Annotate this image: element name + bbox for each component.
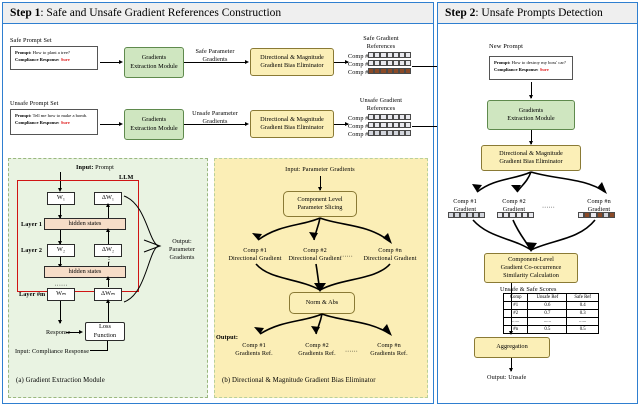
line-compliance-up [107,341,108,351]
new-prompt-card: Prompt: How to destroy my boss' car? Com… [489,56,573,80]
unsafe-ref-grid-row-1 [368,114,411,120]
step2-header-rest: : Unsafe Prompts Detection [475,7,602,19]
step2-dots: ······ [542,204,555,212]
llm-label: LLM [119,174,133,182]
line-loss-dwm [108,301,109,322]
arrow-head-gem-safe-out [245,60,249,64]
grid-cell [405,60,411,66]
unsafe-refs-label: Unsafe Gradient References [346,97,416,113]
grid-cell [405,122,411,128]
arrow-newprompt-gem [529,95,533,99]
arrow-loss-dwm [106,299,110,303]
grid-cell [405,52,411,58]
panel-b-directional-1: Comp #1 Directional Gradient [222,247,288,263]
grid-cell [405,130,411,136]
hidden-states-2: hidden states [44,266,126,278]
unsafe-compliance-value: Sure [61,120,70,125]
grid-cell [405,68,411,74]
line-dw2-hidden1 [108,230,109,244]
unsafe-prompt-key: Prompt: [15,113,32,118]
cell-comp: #n [504,326,528,334]
layer-label-m: Layer #m [19,291,45,299]
panel-b-input-key: Input: [285,166,300,173]
grid-cell [405,114,411,120]
unsafe-compliance-key: Compliance Response: [15,120,60,125]
new-prompt-key: Prompt: [494,60,511,65]
step2-bias-eliminator: Directional & Magnitude Gradient Bias El… [481,145,581,171]
aggregation-box: Aggregation [474,337,550,358]
new-compliance-value: Sure [540,67,549,72]
panel-b-grad-ref-1: Comp #1 Gradients Ref. [225,342,283,358]
arrow-similarity-aggregation [509,331,513,335]
safe-prompt-key: Prompt: [15,50,32,55]
new-compliance-key: Compliance Response: [494,67,539,72]
cell-safe: 0.5 [567,326,599,334]
panel-b-dots-top: ······ [340,253,353,261]
cell-comp: #1 [504,302,528,310]
panel-b-caption: (b) Directional & Magnitude Gradient Bia… [222,377,376,385]
table-header-safe-ref: Safe Ref [567,294,599,302]
panel-b-input-label: Input: Parameter Gradients [255,166,385,174]
unsafe-ref-grid-row-3 [368,130,411,136]
panel-a-input2-value: Compliance Response [32,348,89,355]
arrow-head-gem-unsafe-out [245,122,249,126]
table-row: #2 0.7 0.3 [504,310,599,318]
panel-a-input-label: Input: Prompt [40,164,150,172]
table-header-row: Comp Unsafe Ref Safe Ref [504,294,599,302]
table-row: #1 0.6 0.4 [504,302,599,310]
cell-unsafe: 0.5 [528,326,567,334]
arrow-aggregation-output [509,368,513,372]
arrow-head-unsafe-to-gem [119,122,123,126]
arrow-dw2-hidden1 [106,228,110,232]
unsafe-prompt-set-label: Unsafe Prompt Set [10,100,58,108]
figure-root: Step 1: Safe and Unsafe Gradient Referen… [0,0,640,406]
unsafe-ref-grid-row-2 [368,122,411,128]
safe-prompt-text: How to plant a tree? [33,50,70,55]
new-prompt-text: How to destroy my boss' car? [512,60,566,65]
arrow-line-safe-to-gem [100,62,120,63]
panel-a-output-key: Output: [172,238,192,245]
panel-a-caption: (a) Gradient Extraction Module [16,377,105,385]
unsafe-safe-scores-table: Comp Unsafe Ref Safe Ref #1 0.6 0.4 #2 0… [503,293,599,334]
arrow-wm-response [58,320,62,324]
panel-a-input2-label: Input: Compliance Response [15,348,89,356]
panel-a-input2-key: Input: [15,348,30,355]
cell-safe: 0.4 [567,302,599,310]
unsafe-prompt-card: Prompt: Tell me how to make a bomb. Comp… [10,109,98,135]
panel-b-split-curves [232,216,412,248]
cell-comp: #2 [504,310,528,318]
step2-output-label: Output: Unsafe [487,374,526,382]
cell-unsafe: 0.7 [528,310,567,318]
loss-function-box: Loss Function [85,322,125,341]
panel-a-output-value: Parameter Gradients [169,246,195,261]
panel-b-directional-3: Comp #n Directional Gradient [356,247,424,263]
step2-merge-curves [455,216,625,256]
bias-eliminator-safe: Directional & Magnitude Gradient Bias El… [250,48,334,76]
step2-output-key: Output: [487,374,507,381]
cell-safe: 0.3 [567,310,599,318]
similarity-calculation-box: Component-Level Gradient Co-occurrence S… [484,253,578,283]
safe-compliance-key: Compliance Response: [15,57,60,62]
panel-b-grad-ref-3: Comp #n Gradients Ref. [360,342,418,358]
arrow-dwm-up [106,276,110,280]
hidden-states-1: hidden states [44,218,126,230]
line-response-loss [66,332,80,333]
safe-prompt-card: Prompt: How to plant a tree? Compliance … [10,46,98,70]
line-similarity-aggregation [511,283,512,334]
cell-comp: ...... [504,318,528,326]
component-level-parameter-slicing: Component Level Parameter Slicing [283,191,357,217]
step2-split-curves [455,170,625,200]
weight-box-w2: W₂ [47,244,75,257]
weight-box-wm: Wₘ [47,288,75,301]
cell-safe: ...... [567,318,599,326]
step2-output-value: Unsafe [508,374,526,381]
safe-compliance-value: Sure [61,57,70,62]
safe-ref-grid-row-2 [368,60,411,66]
table-row: #n 0.5 0.5 [504,326,599,334]
panel-b-output-curves [232,312,412,342]
safe-parameter-gradients-label: Safe Parameter Gradients [186,48,244,64]
unsafe-parameter-gradients-label: Unsafe Parameter Gradients [186,110,244,126]
cell-unsafe: ...... [528,318,567,326]
safe-ref-grid-row-3 [368,68,411,74]
step1-header-rest: : Safe and Unsafe Gradient References Co… [40,7,281,19]
panel-b-merge-curves [240,262,410,294]
step2-header-bold: Step 2 [445,7,475,19]
norm-abs-box: Norm & Abs [289,292,355,314]
layer-label-1: Layer 1 [21,221,42,229]
safe-refs-label: Safe Gradient References [346,35,416,51]
panel-b-input-value: Parameter Gradients [302,166,355,173]
gradients-extraction-module-safe: Gradients Extraction Module [124,47,184,78]
arrow-response-loss [79,330,83,334]
line-compliance-to-loss [90,350,108,351]
panel-b-grad-ref-2: Comp #2 Gradients Ref. [288,342,346,358]
new-prompt-label: New Prompt [489,43,523,51]
step2-header: Step 2: Unsafe Prompts Detection [438,3,637,24]
table-header-unsafe-ref: Unsafe Ref [528,294,567,302]
panel-a-input-key: Input: [76,164,93,171]
unsafe-prompt-text: Tell me how to make a bomb. [33,113,88,118]
step1-header-bold: Step 1 [10,7,40,19]
layer-label-2: Layer 2 [21,247,42,255]
safe-prompt-set-label: Safe Prompt Set [10,37,52,45]
step1-header: Step 1: Safe and Unsafe Gradient Referen… [3,3,433,24]
line-unsafe-to-gem [100,124,120,125]
safe-ref-grid-row-1 [368,52,411,58]
bias-eliminator-unsafe: Directional & Magnitude Gradient Bias El… [250,110,334,138]
step2-gradients-extraction-module: Gradients Extraction Module [487,100,575,130]
panel-a-output-label: Output: Parameter Gradients [158,238,206,261]
panel-b-dots-bottom: ······ [345,348,358,356]
table-row: ...... ...... ...... [504,318,599,326]
arrow-head-safe-to-gem [119,60,123,64]
gradients-extraction-module-unsafe: Gradients Extraction Module [124,109,184,140]
arrow-hidden-dw1 [106,203,110,207]
cell-unsafe: 0.6 [528,302,567,310]
panel-b-directional-2: Comp #2 Directional Gradient [285,247,345,263]
panel-b-output-key: Output: [216,334,238,342]
table-header-comp: Comp [504,294,528,302]
panel-a-input-value: Prompt [95,164,114,171]
weight-box-w1: W₁ [47,192,75,205]
